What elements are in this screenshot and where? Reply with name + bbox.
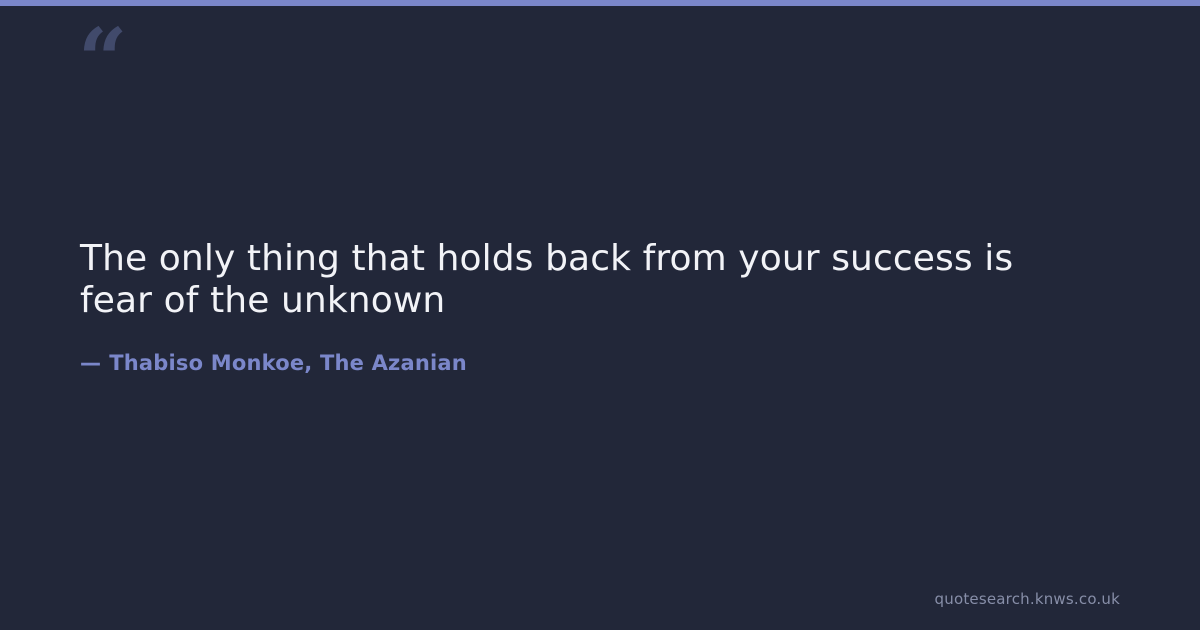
quote-mark-icon: “ bbox=[78, 18, 125, 104]
site-watermark: quotesearch.knws.co.uk bbox=[935, 590, 1120, 608]
quote-text: The only thing that holds back from your… bbox=[80, 238, 1090, 322]
top-accent-bar bbox=[0, 0, 1200, 6]
quote-attribution: —Thabiso Monkoe, The Azanian bbox=[80, 322, 1090, 375]
attribution-source: Thabiso Monkoe, The Azanian bbox=[109, 351, 467, 375]
quote-card: “ The only thing that holds back from yo… bbox=[0, 0, 1200, 630]
quote-content: The only thing that holds back from your… bbox=[80, 238, 1090, 375]
em-dash: — bbox=[80, 351, 109, 375]
